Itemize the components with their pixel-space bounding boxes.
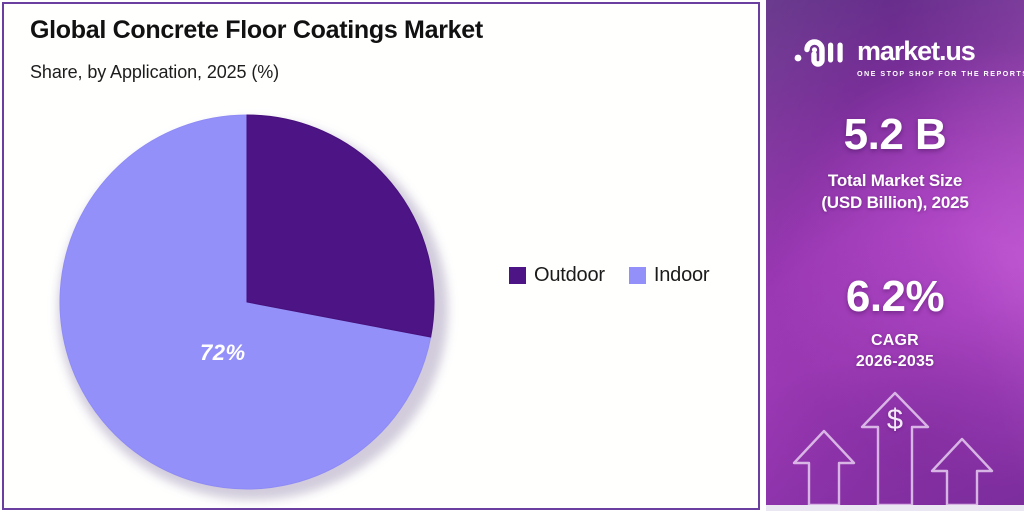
market-size-value: 5.2 B [766, 112, 1024, 158]
cagr-label-line2: 2026-2035 [766, 351, 1024, 372]
pie-chart-svg [52, 112, 448, 500]
legend-item-outdoor[interactable]: Outdoor [509, 264, 605, 287]
brand-tagline: ONE STOP SHOP FOR THE REPORTS [857, 69, 1024, 78]
stats-panel: market.us ONE STOP SHOP FOR THE REPORTS … [766, 0, 1024, 511]
brand-logo[interactable]: market.us ONE STOP SHOP FOR THE REPORTS [794, 36, 1024, 78]
chart-legend: Outdoor Indoor [509, 264, 709, 287]
legend-swatch-indoor-icon [629, 267, 646, 284]
brand-name: market.us [857, 38, 1024, 65]
cagr-label-line1: CAGR [766, 330, 1024, 351]
market-size-label-line1: Total Market Size [766, 170, 1024, 192]
stat-market-size: 5.2 B Total Market Size (USD Billion), 2… [766, 112, 1024, 214]
legend-label-outdoor: Outdoor [534, 264, 605, 287]
chart-panel: Global Concrete Floor Coatings Market Sh… [2, 2, 760, 510]
market-us-logomark-icon [794, 36, 848, 70]
legend-label-indoor: Indoor [654, 264, 710, 287]
page-title: Global Concrete Floor Coatings Market [30, 16, 483, 45]
legend-swatch-outdoor-icon [509, 267, 526, 284]
brand-logo-text: market.us ONE STOP SHOP FOR THE REPORTS [857, 36, 1024, 78]
chart-subtitle: Share, by Application, 2025 (%) [30, 62, 279, 83]
market-size-label: Total Market Size (USD Billion), 2025 [766, 170, 1024, 214]
panel-bottom-strip [766, 505, 1024, 511]
legend-item-indoor[interactable]: Indoor [629, 264, 710, 287]
growth-arrows-icon [766, 387, 1024, 505]
cagr-value: 6.2% [766, 274, 1024, 320]
cagr-label: CAGR 2026-2035 [766, 330, 1024, 372]
pie-chart: 72% [52, 112, 448, 500]
stat-cagr: 6.2% CAGR 2026-2035 [766, 274, 1024, 372]
market-size-label-line2: (USD Billion), 2025 [766, 192, 1024, 214]
pie-slice-outdoor[interactable] [247, 115, 434, 337]
pie-slice-label-indoor: 72% [200, 340, 246, 366]
market-infographic: Global Concrete Floor Coatings Market Sh… [0, 0, 1024, 516]
